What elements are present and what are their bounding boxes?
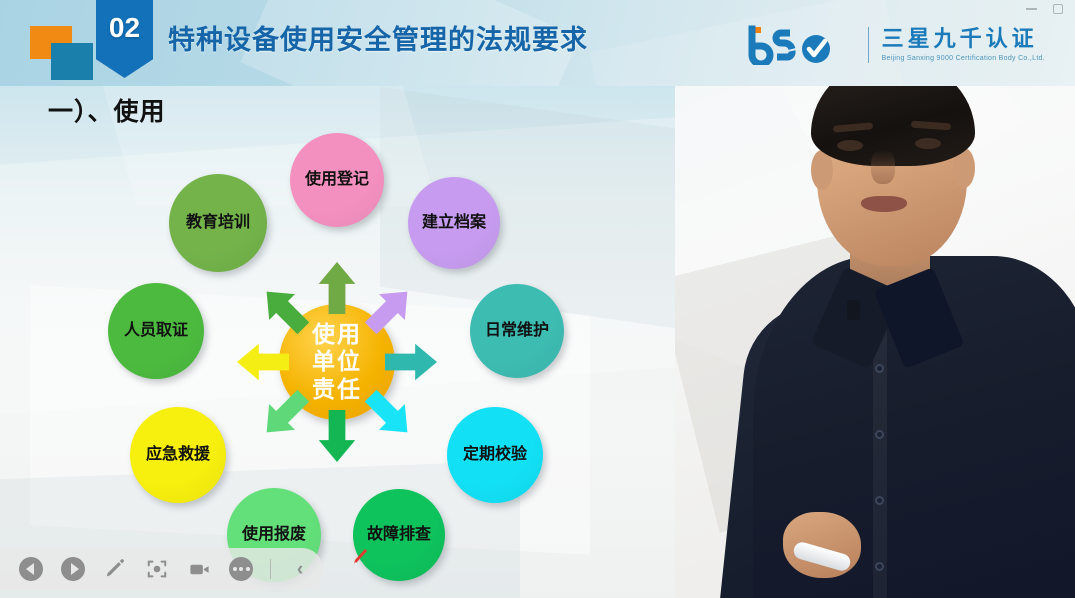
diagram-node-2: 建立档案	[408, 177, 500, 269]
diagram-node-9: 教育培训	[169, 174, 267, 272]
next-slide-button[interactable]	[60, 556, 86, 582]
brand-squares-logo	[30, 26, 100, 80]
bso-logo-svg	[747, 25, 855, 65]
teal-square-icon	[51, 43, 93, 80]
slide-player-window: 02 特种设备使用安全管理的法规要求 三星九千认证 Beijing Sanxin…	[0, 0, 1075, 598]
diagram-node-8: 人员取证	[108, 283, 204, 379]
diagram-node-label: 故障排查	[367, 526, 431, 544]
diagram-node-3: 日常维护	[470, 284, 564, 378]
screenshot-button[interactable]	[144, 556, 170, 582]
certification-body-logo: 三星九千认证 Beijing Sanxing 9000 Certificatio…	[747, 22, 1045, 68]
slide-header: 02 特种设备使用安全管理的法规要求 三星九千认证 Beijing Sanxin…	[0, 0, 1075, 86]
bso-mark-icon	[747, 25, 855, 65]
responsibility-diagram: 使用单位责任 使用登记建立档案日常维护定期校验故障排查使用报废应急救援人员取证教…	[60, 120, 630, 590]
diagram-node-label: 教育培训	[186, 214, 250, 232]
diagram-node-label: 建立档案	[422, 214, 486, 232]
diagram-node-label: 使用报废	[242, 526, 306, 544]
collapse-toolbar-button[interactable]: ‹	[287, 556, 313, 582]
lapel-mic	[847, 300, 860, 320]
next-icon	[61, 557, 85, 581]
previous-slide-button[interactable]	[18, 556, 44, 582]
window-controls[interactable]	[1026, 4, 1063, 14]
center-node-line: 使用	[312, 321, 362, 348]
center-node-line: 单位	[312, 348, 362, 375]
diagram-node-label: 人员取证	[124, 322, 188, 340]
diagram-node-label: 使用登记	[305, 171, 369, 189]
annotate-pen-button[interactable]	[102, 556, 128, 582]
brand-name-cn: 三星九千认证	[882, 28, 1045, 50]
section-number-badge: 02	[96, 0, 153, 78]
more-icon	[229, 557, 253, 581]
pencil-icon	[104, 558, 126, 580]
toolbar-divider	[270, 559, 271, 579]
previous-icon	[19, 557, 43, 581]
center-node-line: 责任	[312, 376, 362, 403]
diagram-node-1: 使用登记	[290, 133, 384, 227]
chevron-left-icon: ‹	[297, 560, 303, 579]
diagram-node-5: 故障排查	[353, 489, 445, 581]
annotation-pen-cursor	[352, 548, 368, 566]
player-toolbar[interactable]: ‹	[0, 548, 323, 590]
presenter-video	[675, 0, 1075, 598]
focus-frame-icon	[146, 558, 168, 580]
section-number: 02	[109, 14, 140, 42]
diagram-node-label: 应急救援	[146, 446, 210, 464]
page-title: 特种设备使用安全管理的法规要求	[168, 18, 588, 57]
restore-icon[interactable]	[1053, 4, 1063, 14]
diagram-node-4: 定期校验	[447, 407, 543, 503]
minimize-icon[interactable]	[1026, 8, 1037, 10]
diagram-node-label: 定期校验	[463, 446, 527, 464]
diagram-node-label: 日常维护	[485, 322, 549, 340]
diagram-node-7: 应急救援	[130, 407, 226, 503]
video-camera-icon	[188, 558, 211, 581]
brand-name-en: Beijing Sanxing 9000 Certification Body …	[882, 55, 1045, 62]
more-options-button[interactable]	[228, 556, 254, 582]
brand-divider	[868, 27, 869, 63]
record-video-button[interactable]	[186, 556, 212, 582]
